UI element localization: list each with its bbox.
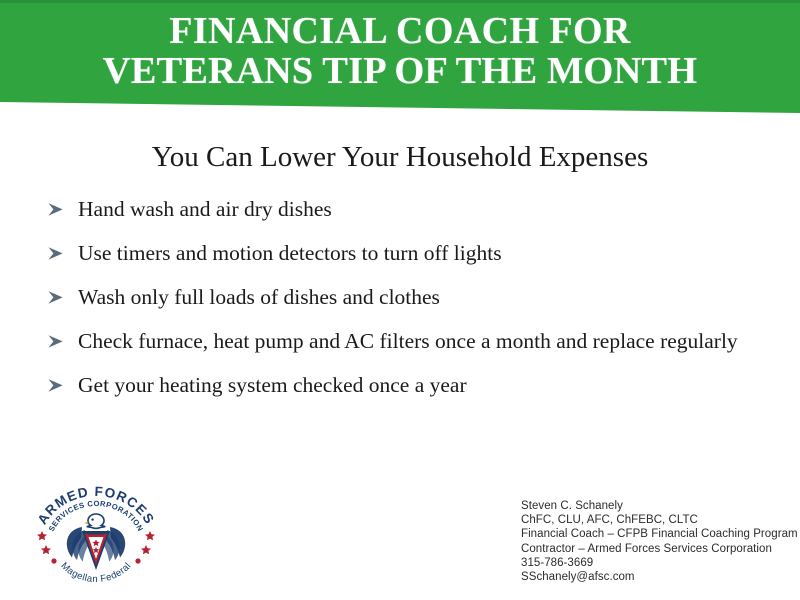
contact-organization: Contractor – Armed Forces Services Corpo…: [521, 542, 799, 556]
arrowhead-bullet-icon: [46, 332, 66, 351]
header-title: FINANCIAL COACH FOR VETERANS TIP OF THE …: [0, 11, 800, 91]
star-icon: [135, 531, 155, 564]
slide-canvas: FINANCIAL COACH FOR VETERANS TIP OF THE …: [0, 0, 800, 600]
slide-subtitle: You Can Lower Your Household Expenses: [0, 140, 800, 174]
arrowhead-bullet-icon: [46, 200, 66, 219]
contact-role: Financial Coach – CFPB Financial Coachin…: [521, 527, 799, 541]
header-title-line-2: VETERANS TIP OF THE MONTH: [0, 51, 800, 91]
contact-email: SSchanely@afsc.com: [521, 570, 799, 584]
list-item-label: Hand wash and air dry dishes: [78, 196, 776, 223]
arrowhead-bullet-icon: [46, 288, 66, 307]
tips-bullet-list: Hand wash and air dry dishes Use timers …: [46, 196, 776, 399]
header-title-line-1: FINANCIAL COACH FOR: [0, 11, 800, 51]
contact-credentials: ChFC, CLU, AFC, ChFEBC, CLTC: [521, 513, 799, 527]
list-item: Check furnace, heat pump and AC filters …: [46, 328, 776, 355]
list-item: Hand wash and air dry dishes: [46, 196, 776, 223]
eagle-shield-emblem: [67, 514, 125, 570]
list-item: Wash only full loads of dishes and cloth…: [46, 284, 776, 311]
arrowhead-bullet-icon: [46, 244, 66, 263]
header-top-rule: [0, 0, 800, 3]
list-item-label: Wash only full loads of dishes and cloth…: [78, 284, 776, 311]
header-banner: FINANCIAL COACH FOR VETERANS TIP OF THE …: [0, 0, 800, 114]
star-icon: [37, 531, 57, 564]
list-item-label: Check furnace, heat pump and AC filters …: [78, 328, 776, 355]
list-item: Use timers and motion detectors to turn …: [46, 240, 776, 267]
list-item-label: Use timers and motion detectors to turn …: [78, 240, 776, 267]
list-item: Get your heating system checked once a y…: [46, 372, 776, 399]
contact-phone: 315-786-3669: [521, 556, 799, 570]
contact-info-block: Steven C. Schanely ChFC, CLU, AFC, ChFEB…: [521, 499, 799, 584]
arrowhead-bullet-icon: [46, 376, 66, 395]
contact-name: Steven C. Schanely: [521, 499, 799, 513]
armed-forces-services-corporation-logo: ARMED FORCES SERVICES CORPORATION Magell…: [22, 484, 170, 592]
list-item-label: Get your heating system checked once a y…: [78, 372, 776, 399]
